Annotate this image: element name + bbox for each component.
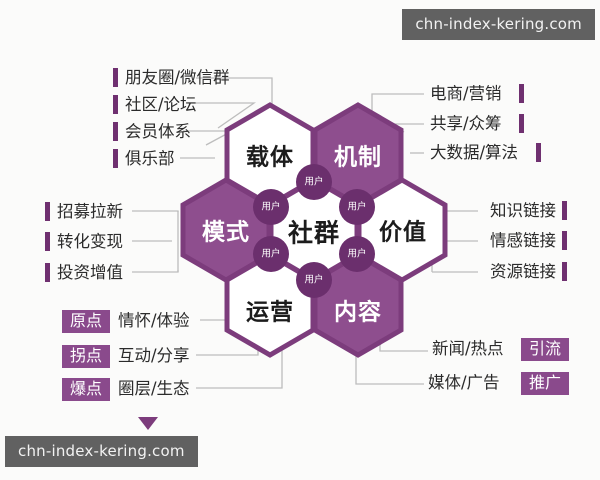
hexagon-label-community: 社群 [288,221,340,246]
annotation-content-item-2[interactable]: 媒体/广告 [428,375,500,392]
annotation-value-item-1[interactable]: 知识链接 [490,203,556,220]
infographic-canvas: 载体 机制 模式 价值 运营 内容 社群 用户 用户 用户 用户 用户 用户 朋… [0,0,600,480]
triangle-down-icon [138,417,158,430]
bar-marker [536,143,541,162]
annotation-operation-item-3[interactable]: 圈层/生态 [118,381,190,398]
annotation-model-item-2[interactable]: 转化变现 [57,234,123,251]
annotation-carrier-item-3[interactable]: 会员体系 [125,124,191,141]
annotation-operation-item-2[interactable]: 互动/分享 [118,348,190,365]
hexagon-label-value: 价值 [379,222,427,245]
user-node-label: 用户 [347,249,366,259]
annotation-carrier-item-4[interactable]: 俱乐部 [125,151,175,168]
hexagon-label-carrier: 载体 [246,147,294,170]
user-node-label: 用户 [261,202,280,212]
user-node-label: 用户 [304,275,323,285]
bar-marker [45,232,50,251]
user-node-label: 用户 [347,202,366,212]
bar-marker [562,262,567,281]
annotation-carrier-item-2[interactable]: 社区/论坛 [125,97,197,114]
user-node-label: 用户 [261,249,280,259]
annotation-mechanism-item-1[interactable]: 电商/营销 [430,86,502,103]
bar-marker [562,231,567,250]
hexagon-label-model: 模式 [202,222,250,245]
bar-marker [113,149,118,168]
annotation-content-item-1[interactable]: 新闻/热点 [432,341,504,358]
annotation-value-item-3[interactable]: 资源链接 [490,264,556,281]
annotation-model-item-1[interactable]: 招募拉新 [57,204,123,221]
bar-marker [113,122,118,141]
annotation-carrier-item-1[interactable]: 朋友圈/微信群 [125,70,230,87]
annotation-mechanism-item-2[interactable]: 共享/众筹 [430,116,502,133]
connectors-model [132,211,178,272]
watermark-top-right: chn-index-kering.com [402,9,595,40]
badge-turning-point[interactable]: 拐点 [62,345,110,368]
bar-marker [113,95,118,114]
hexagon-label-content: 内容 [334,302,382,325]
bar-marker [45,263,50,282]
bar-marker [45,202,50,221]
bar-marker [113,68,118,87]
watermark-bottom-left: chn-index-kering.com [5,436,198,467]
bar-marker [519,114,524,133]
annotation-model-item-3[interactable]: 投资增值 [57,265,123,282]
badge-promotion[interactable]: 推广 [521,372,569,395]
user-node-label: 用户 [304,177,323,187]
badge-traffic-drive[interactable]: 引流 [521,338,569,361]
hexagon-label-operation: 运营 [246,302,294,325]
annotation-mechanism-item-3[interactable]: 大数据/算法 [430,145,518,162]
bar-marker [519,84,524,103]
badge-origin-point[interactable]: 原点 [62,310,110,333]
hexagon-label-mechanism: 机制 [334,147,382,170]
annotation-operation-item-1[interactable]: 情怀/体验 [118,313,190,330]
badge-explosion-point[interactable]: 爆点 [62,378,110,401]
annotation-value-item-2[interactable]: 情感链接 [490,233,556,250]
bar-marker [562,201,567,220]
